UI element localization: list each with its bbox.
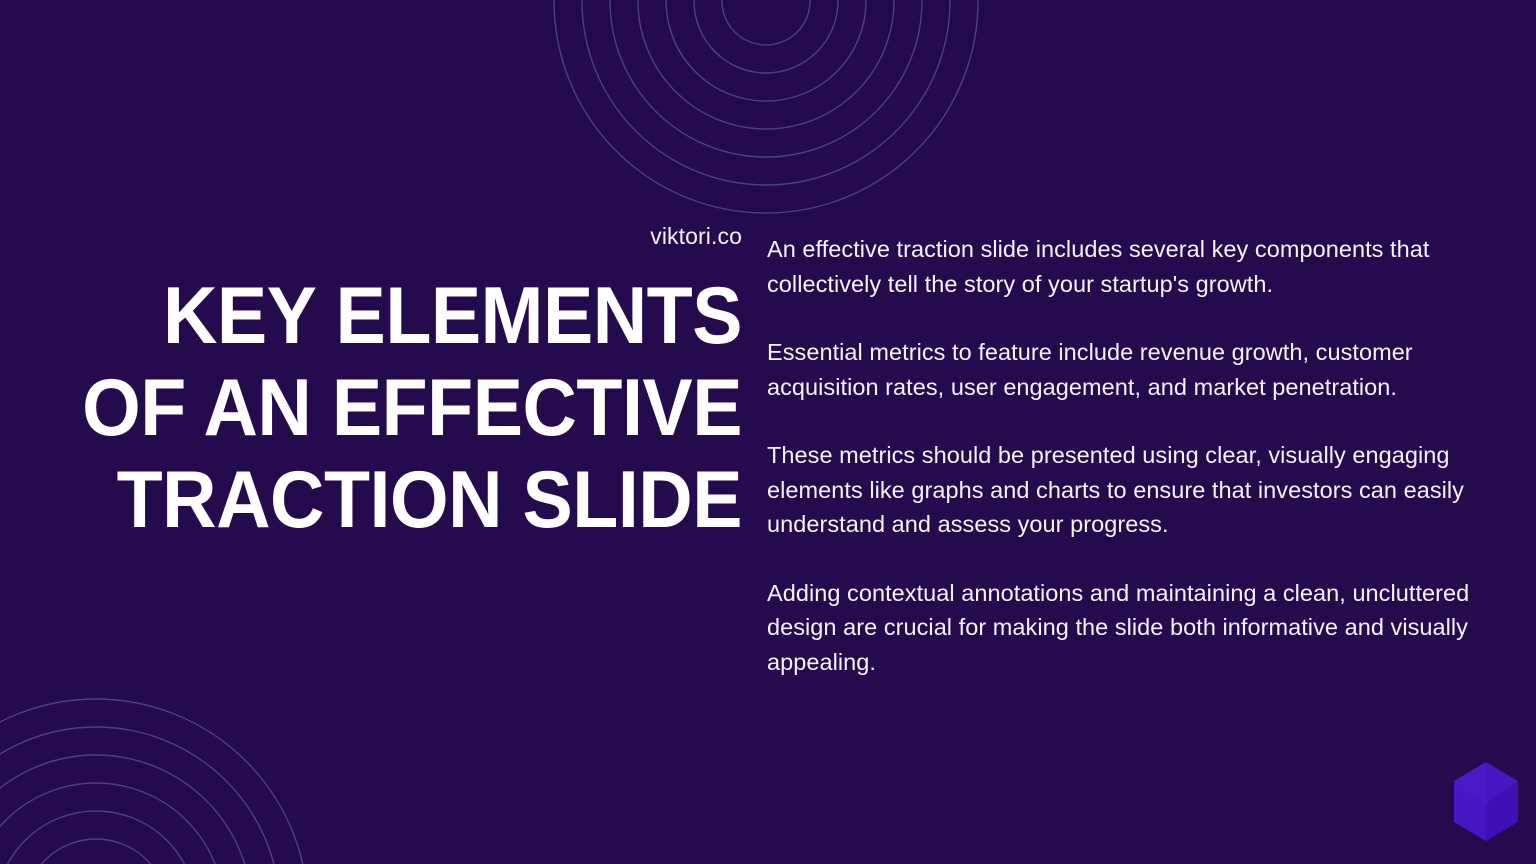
body-paragraph-3: These metrics should be presented using … — [767, 438, 1479, 542]
page-title: KEY ELEMENTS OF AN EFFECTIVE TRACTION SL… — [52, 270, 742, 546]
headline-line-2: OF AN EFFECTIVE — [52, 362, 742, 454]
hexagon-cube-logo-icon — [1449, 761, 1523, 843]
ring-group-top — [554, 0, 978, 213]
headline-line-3: TRACTION SLIDE — [52, 454, 742, 546]
body-paragraph-2: Essential metrics to feature include rev… — [767, 335, 1479, 404]
presentation-slide: viktori.co KEY ELEMENTS OF AN EFFECTIVE … — [0, 0, 1536, 864]
body-paragraph-4: Adding contextual annotations and mainta… — [767, 576, 1479, 680]
body-paragraph-1: An effective traction slide includes sev… — [767, 232, 1479, 301]
ring-group-bottom-left — [0, 699, 308, 864]
concentric-rings-top-decoration — [533, 0, 999, 234]
brand-label: viktori.co — [0, 225, 742, 248]
headline-column: viktori.co KEY ELEMENTS OF AN EFFECTIVE … — [0, 225, 742, 546]
headline-line-1: KEY ELEMENTS — [52, 270, 742, 362]
concentric-rings-bottom-left-decoration — [0, 678, 329, 864]
body-copy-column: An effective traction slide includes sev… — [767, 232, 1479, 679]
